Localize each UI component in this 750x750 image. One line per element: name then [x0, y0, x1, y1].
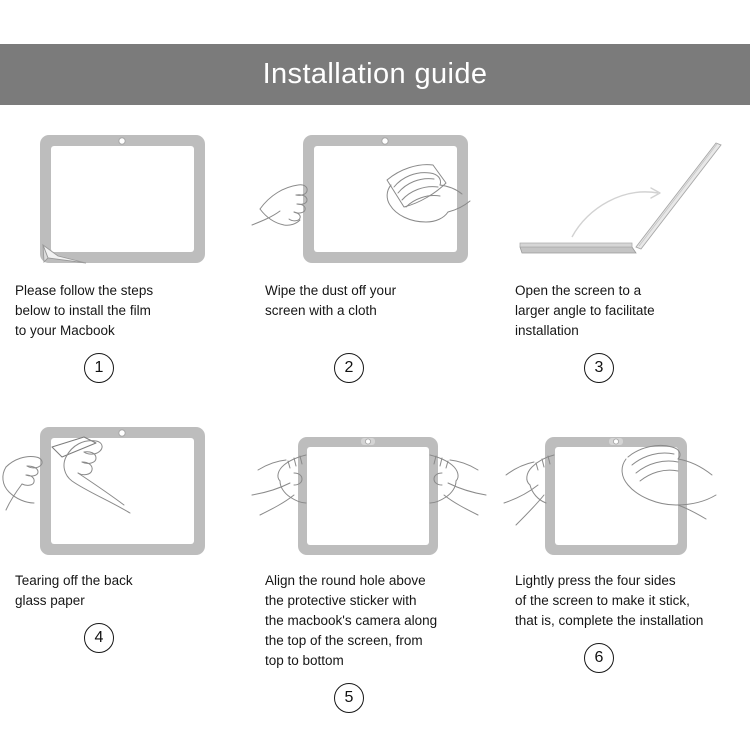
step-caption-3: Open the screen to a larger angle to fac… — [500, 281, 750, 341]
page-title: Installation guide — [263, 60, 488, 89]
step-number-5: 5 — [334, 683, 364, 713]
step-cell-6: Lightly press the four sides of the scre… — [500, 415, 750, 725]
illustration-hands-pressing-film-edges — [500, 415, 750, 565]
step-caption-1: Please follow the steps below to install… — [0, 281, 250, 341]
step-number-1: 1 — [84, 353, 114, 383]
illustration-two-hands-aligning-film-on-screen — [250, 415, 500, 565]
step-number-wrap-2: 2 — [250, 341, 500, 393]
step-number-wrap-3: 3 — [500, 341, 750, 393]
step-cell-5: Align the round hole above the protectiv… — [250, 415, 500, 725]
step-number-wrap-5: 5 — [250, 671, 500, 725]
step-number-wrap-4: 4 — [0, 611, 250, 665]
step-cell-1: Please follow the steps below to install… — [0, 125, 250, 415]
step-cell-4: Tearing off the back glass paper 4 — [0, 415, 250, 725]
steps-grid: Please follow the steps below to install… — [0, 125, 750, 725]
illustration-screen-with-peeling-film-corner — [0, 125, 250, 275]
step-cell-3: Open the screen to a larger angle to fac… — [500, 125, 750, 415]
step-caption-5: Align the round hole above the protectiv… — [250, 571, 500, 671]
illustration-hand-wiping-screen-with-cloth — [250, 125, 500, 275]
header-band: Installation guide — [0, 44, 750, 105]
step-number-wrap-6: 6 — [500, 631, 750, 685]
step-number-6: 6 — [584, 643, 614, 673]
step-number-4: 4 — [84, 623, 114, 653]
step-cell-2: Wipe the dust off your screen with a clo… — [250, 125, 500, 415]
step-number-3: 3 — [584, 353, 614, 383]
step-caption-2: Wipe the dust off your screen with a clo… — [250, 281, 500, 341]
illustration-two-hands-tearing-back-paper — [0, 415, 250, 565]
step-caption-6: Lightly press the four sides of the scre… — [500, 571, 750, 631]
illustration-laptop-side-view-opening-screen — [500, 125, 750, 275]
step-caption-4: Tearing off the back glass paper — [0, 571, 250, 611]
step-number-wrap-1: 1 — [0, 341, 250, 393]
step-number-2: 2 — [334, 353, 364, 383]
